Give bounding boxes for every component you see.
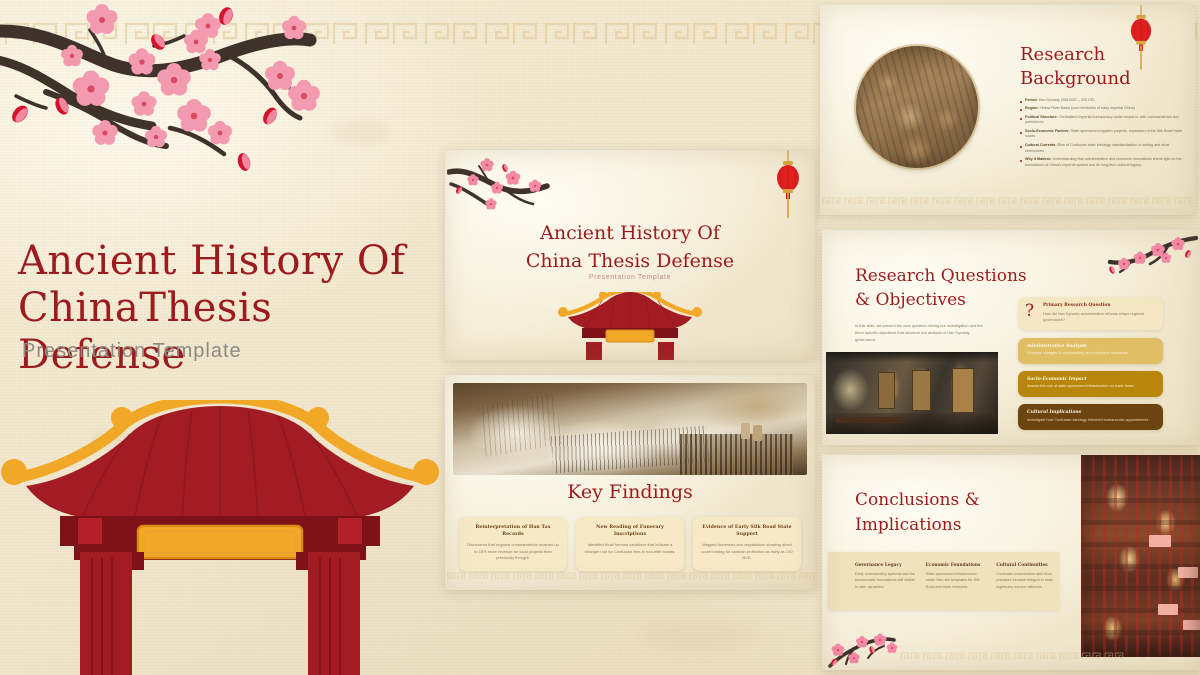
slide-research-background-thumbnail[interactable]: Research Background Period: Han Dynasty …: [820, 5, 1195, 215]
paper-blotch: [640, 620, 760, 650]
cherry-blossom-branch-icon: [0, 0, 344, 181]
primary-question-body: How did Han Dynasty administrative refor…: [1043, 311, 1155, 323]
bullet-label: Region:: [1025, 106, 1039, 110]
slide-key-findings-thumbnail[interactable]: Key Findings Reinterpretation of Han Tax…: [445, 375, 815, 590]
key-finding-card[interactable]: New Reading of Funerary Inscriptions Ide…: [576, 517, 684, 571]
bullet-dot-icon: [1020, 146, 1022, 148]
museum-corridor-photo: [826, 352, 998, 434]
list-item: Socio-Economic Factors: State-sponsored …: [1020, 129, 1182, 140]
objective-body: Assess the role of state-sponsored infra…: [1027, 384, 1154, 390]
terracotta-warriors-photo: [856, 46, 978, 168]
conclusions-columns: Governance Legacy Early commandery syste…: [855, 563, 1057, 590]
bullet-label: Period:: [1025, 98, 1038, 102]
column-title: Cultural Continuities: [996, 563, 1057, 568]
chinese-lanterns-photo: [1081, 455, 1200, 657]
conclusions-heading: Conclusions & Implications: [855, 488, 980, 537]
cherry-blossom-branch-icon: [828, 628, 908, 670]
objective-body: Investigate how Confucian ideology infor…: [1027, 418, 1154, 424]
column-body: Confucian examination and ritual practic…: [996, 571, 1057, 590]
primary-question-title: Primary Research Question: [1043, 303, 1155, 308]
question-mark-icon: ?: [1025, 303, 1034, 320]
list-item: Cultural Currents: Rise of Confucian sta…: [1020, 143, 1182, 154]
bullet-dot-icon: [1020, 132, 1022, 134]
slide-title-line1: Ancient History Of: [445, 220, 815, 248]
red-lantern-icon: [775, 150, 801, 226]
card-body: Identified ritual formula variations tha…: [583, 542, 677, 555]
research-background-heading: Research Background: [1020, 43, 1131, 92]
list-item: Region: Yellow River Basin (core territo…: [1020, 106, 1182, 112]
research-questions-intro: In this slide, we present the core quest…: [855, 323, 985, 343]
card-body: Discovered that regional commanderies re…: [466, 542, 560, 561]
objective-title: Administrative Analysis: [1027, 344, 1154, 349]
hero-panel: Ancient History Of ChinaThesis Defense P…: [0, 0, 440, 675]
list-item: Why It Matters: Understanding Han admini…: [1020, 157, 1182, 168]
meander-border-pattern: [898, 649, 1125, 663]
slide-title-heading: Ancient History Of China Thesis Defense: [445, 220, 815, 275]
list-item: Political Structure: Centralized imperia…: [1020, 115, 1182, 126]
red-lantern-icon: [1129, 5, 1153, 75]
meander-border-pattern: [820, 194, 1195, 208]
objective-title: Cultural Implications: [1027, 410, 1154, 415]
heading-line2: Background: [1020, 67, 1131, 91]
bullet-label: Cultural Currents:: [1025, 143, 1057, 147]
heading-line1: Research: [1020, 43, 1131, 67]
key-finding-card[interactable]: Evidence of Early Silk Road State Suppor…: [693, 517, 801, 571]
list-item: Period: Han Dynasty (206 BCE – 220 CE): [1020, 98, 1182, 104]
research-objectives-list: ? Primary Research Question How did Han …: [1018, 297, 1163, 437]
objective-bar-socioeconomic[interactable]: Socio-Economic Impact Assess the role of…: [1018, 371, 1163, 397]
heading-line2: & Objectives: [855, 289, 1027, 313]
column-title: Economic Foundations: [926, 563, 987, 568]
slide-title-line2: China Thesis Defense: [445, 248, 815, 276]
research-background-bullet-list: Period: Han Dynasty (206 BCE – 220 CE) R…: [1020, 98, 1182, 171]
objective-bar-administrative[interactable]: Administrative Analysis Examine changes …: [1018, 338, 1163, 364]
hero-title-line2: ChinaThesis Defense: [18, 285, 438, 379]
key-finding-card[interactable]: Reinterpretation of Han Tax Records Disc…: [459, 517, 567, 571]
card-title: New Reading of Funerary Inscriptions: [583, 525, 677, 538]
card-title: Reinterpretation of Han Tax Records: [466, 525, 560, 538]
conclusion-column[interactable]: Cultural Continuities Confucian examinat…: [996, 563, 1057, 590]
bullet-dot-icon: [1020, 118, 1022, 120]
bullet-label: Why It Matters:: [1025, 157, 1051, 161]
heading-line2: Implications: [855, 513, 980, 538]
objective-body: Examine changes in commandery and prefec…: [1027, 351, 1154, 357]
heading-line1: Research Questions: [855, 265, 1027, 289]
hero-subtitle: Presentation Template: [22, 340, 242, 363]
hero-title-line1: Ancient History Of: [18, 238, 405, 284]
column-title: Governance Legacy: [855, 563, 916, 568]
card-body: Mapped fortresses and waystations showin…: [700, 542, 794, 561]
presentation-preview-canvas: Ancient History Of ChinaThesis Defense P…: [0, 0, 1200, 675]
primary-research-question-card[interactable]: ? Primary Research Question How did Han …: [1018, 297, 1163, 330]
key-findings-card-row: Reinterpretation of Han Tax Records Disc…: [459, 517, 801, 571]
cherry-blossom-branch-icon: [447, 156, 567, 218]
bullet-text: Yellow River Basin (core territories of …: [1040, 106, 1135, 110]
bullet-label: Political Structure:: [1025, 115, 1058, 119]
research-questions-heading: Research Questions & Objectives: [855, 265, 1027, 313]
bullet-label: Socio-Economic Factors:: [1025, 129, 1069, 133]
chinese-gate-icon: [554, 292, 706, 360]
slide-research-questions-thumbnail[interactable]: Research Questions & Objectives In this …: [822, 230, 1200, 445]
bullet-text: Han Dynasty (206 BCE – 220 CE): [1039, 98, 1095, 102]
column-body: Early commandery systems laid the bureau…: [855, 571, 916, 590]
bullet-dot-icon: [1020, 109, 1022, 111]
conclusion-column[interactable]: Economic Foundations State-sponsored inf…: [926, 563, 987, 590]
chinese-gate-icon: [0, 400, 444, 675]
slide-title-thumbnail[interactable]: Ancient History Of China Thesis Defense …: [445, 150, 815, 360]
bullet-dot-icon: [1020, 160, 1022, 162]
bullet-dot-icon: [1020, 101, 1022, 103]
key-findings-heading: Key Findings: [445, 481, 815, 503]
slide-conclusions-thumbnail[interactable]: Conclusions & Implications Governance Le…: [822, 455, 1200, 670]
card-title: Evidence of Early Silk Road State Suppor…: [700, 525, 794, 538]
cherry-blossom-branch-icon: [1102, 232, 1198, 278]
slide-title-subtitle: Presentation Template: [445, 274, 815, 281]
heading-line1: Conclusions &: [855, 488, 980, 513]
objective-title: Socio-Economic Impact: [1027, 377, 1154, 382]
meander-border-pattern: [445, 569, 815, 583]
conclusion-column[interactable]: Governance Legacy Early commandery syste…: [855, 563, 916, 590]
column-body: State-sponsored infrastructure under Han…: [926, 571, 987, 590]
objective-bar-cultural[interactable]: Cultural Implications Investigate how Co…: [1018, 404, 1163, 430]
ancient-scrolls-photo: [453, 383, 807, 475]
